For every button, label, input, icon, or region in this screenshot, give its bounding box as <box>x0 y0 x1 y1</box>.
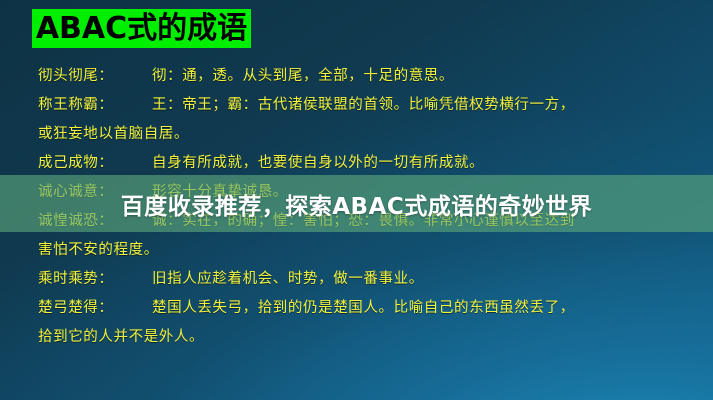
idiom-term: 成己成物： <box>38 149 134 178</box>
idiom-definition: 自身有所成就，也要使自身以外的一切有所成就。 <box>152 155 484 171</box>
idiom-definition: 旧指人应趁着机会、时势，做一番事业。 <box>152 271 424 287</box>
idiom-definition: 害怕不安的程度。 <box>38 242 159 258</box>
list-item: 成己成物：自身有所成就，也要使自身以外的一切有所成就。 <box>38 149 686 178</box>
idiom-definition: 彻：通，透。从头到尾，全部，十足的意思。 <box>152 68 454 84</box>
watermark-text: 百度收录推荐，探索ABAC式成语的奇妙世界 <box>0 175 713 232</box>
idiom-definition: 楚国人丢失弓，拾到的仍是楚国人。比喻自己的东西虽然丢了， <box>152 300 575 316</box>
idiom-definition: 拾到它的人并不是外人。 <box>38 329 204 345</box>
list-item: 楚弓楚得：楚国人丢失弓，拾到的仍是楚国人。比喻自己的东西虽然丢了， <box>38 294 686 323</box>
idiom-definition: 或狂妄地以首脑自居。 <box>38 126 189 142</box>
slide-canvas: ABAC式的成语 彻头彻尾：彻：通，透。从头到尾，全部，十足的意思。 称王称霸：… <box>0 0 713 400</box>
list-item-continuation: 拾到它的人并不是外人。 <box>38 323 686 352</box>
idiom-definition: 王：帝王；霸：古代诸侯联盟的首领。比喻凭借权势横行一方， <box>152 97 575 113</box>
idiom-term: 楚弓楚得： <box>38 294 134 323</box>
list-item-continuation: 或狂妄地以首脑自居。 <box>38 120 686 149</box>
page-title: ABAC式的成语 <box>36 14 247 44</box>
idiom-term: 乘时乘势： <box>38 265 134 294</box>
list-item: 称王称霸：王：帝王；霸：古代诸侯联盟的首领。比喻凭借权势横行一方， <box>38 91 686 120</box>
idiom-term: 彻头彻尾： <box>38 62 134 91</box>
idiom-term: 称王称霸： <box>38 91 134 120</box>
list-item-continuation: 害怕不安的程度。 <box>38 236 686 265</box>
slide-title-box: ABAC式的成语 <box>32 9 251 48</box>
list-item: 乘时乘势：旧指人应趁着机会、时势，做一番事业。 <box>38 265 686 294</box>
list-item: 彻头彻尾：彻：通，透。从头到尾，全部，十足的意思。 <box>38 62 686 91</box>
